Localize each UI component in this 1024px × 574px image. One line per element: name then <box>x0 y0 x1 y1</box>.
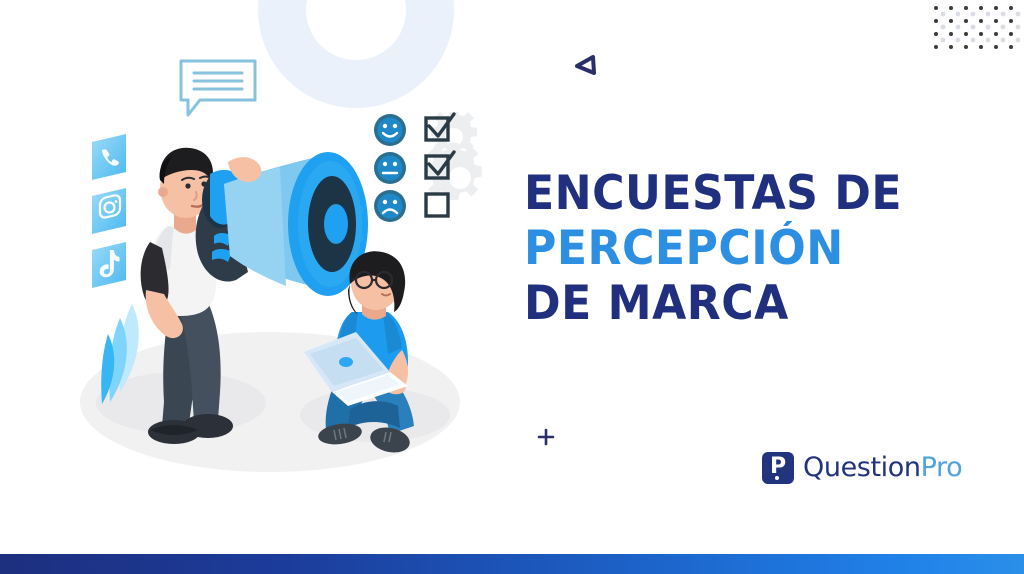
happy-face-icon <box>374 114 406 146</box>
page-title: ENCUESTAS DE PERCEPCIÓN DE MARCA <box>524 166 994 331</box>
triangle-arrow-icon <box>573 52 599 78</box>
headline-line-3: DE MARCA <box>524 276 966 331</box>
logo-mark-dot <box>775 476 779 480</box>
logo-text-pro: Pro <box>921 452 963 483</box>
plus-icon <box>537 428 555 446</box>
chat-bubble-icon <box>178 58 258 118</box>
brand-perception-banner: ENCUESTAS DE PERCEPCIÓN DE MARCA P Quest… <box>0 0 1024 574</box>
logo-text-question: Question <box>803 452 921 483</box>
questionpro-logo-mark: P <box>762 452 794 484</box>
questionpro-logo-text: QuestionPro <box>803 453 962 483</box>
sad-face-icon <box>374 190 406 222</box>
bottom-gradient-bar <box>0 554 1024 574</box>
neutral-face-icon <box>374 152 406 184</box>
illustration-woman-with-laptop <box>290 250 470 455</box>
survey-widget-icons <box>372 112 498 238</box>
headline-line-1: ENCUESTAS DE <box>524 166 966 221</box>
dot-grid-decoration <box>932 4 1024 50</box>
headline-line-2: PERCEPCIÓN <box>524 221 966 276</box>
checkbox-unchecked <box>426 194 448 216</box>
questionpro-logo[interactable]: P QuestionPro <box>762 452 962 484</box>
